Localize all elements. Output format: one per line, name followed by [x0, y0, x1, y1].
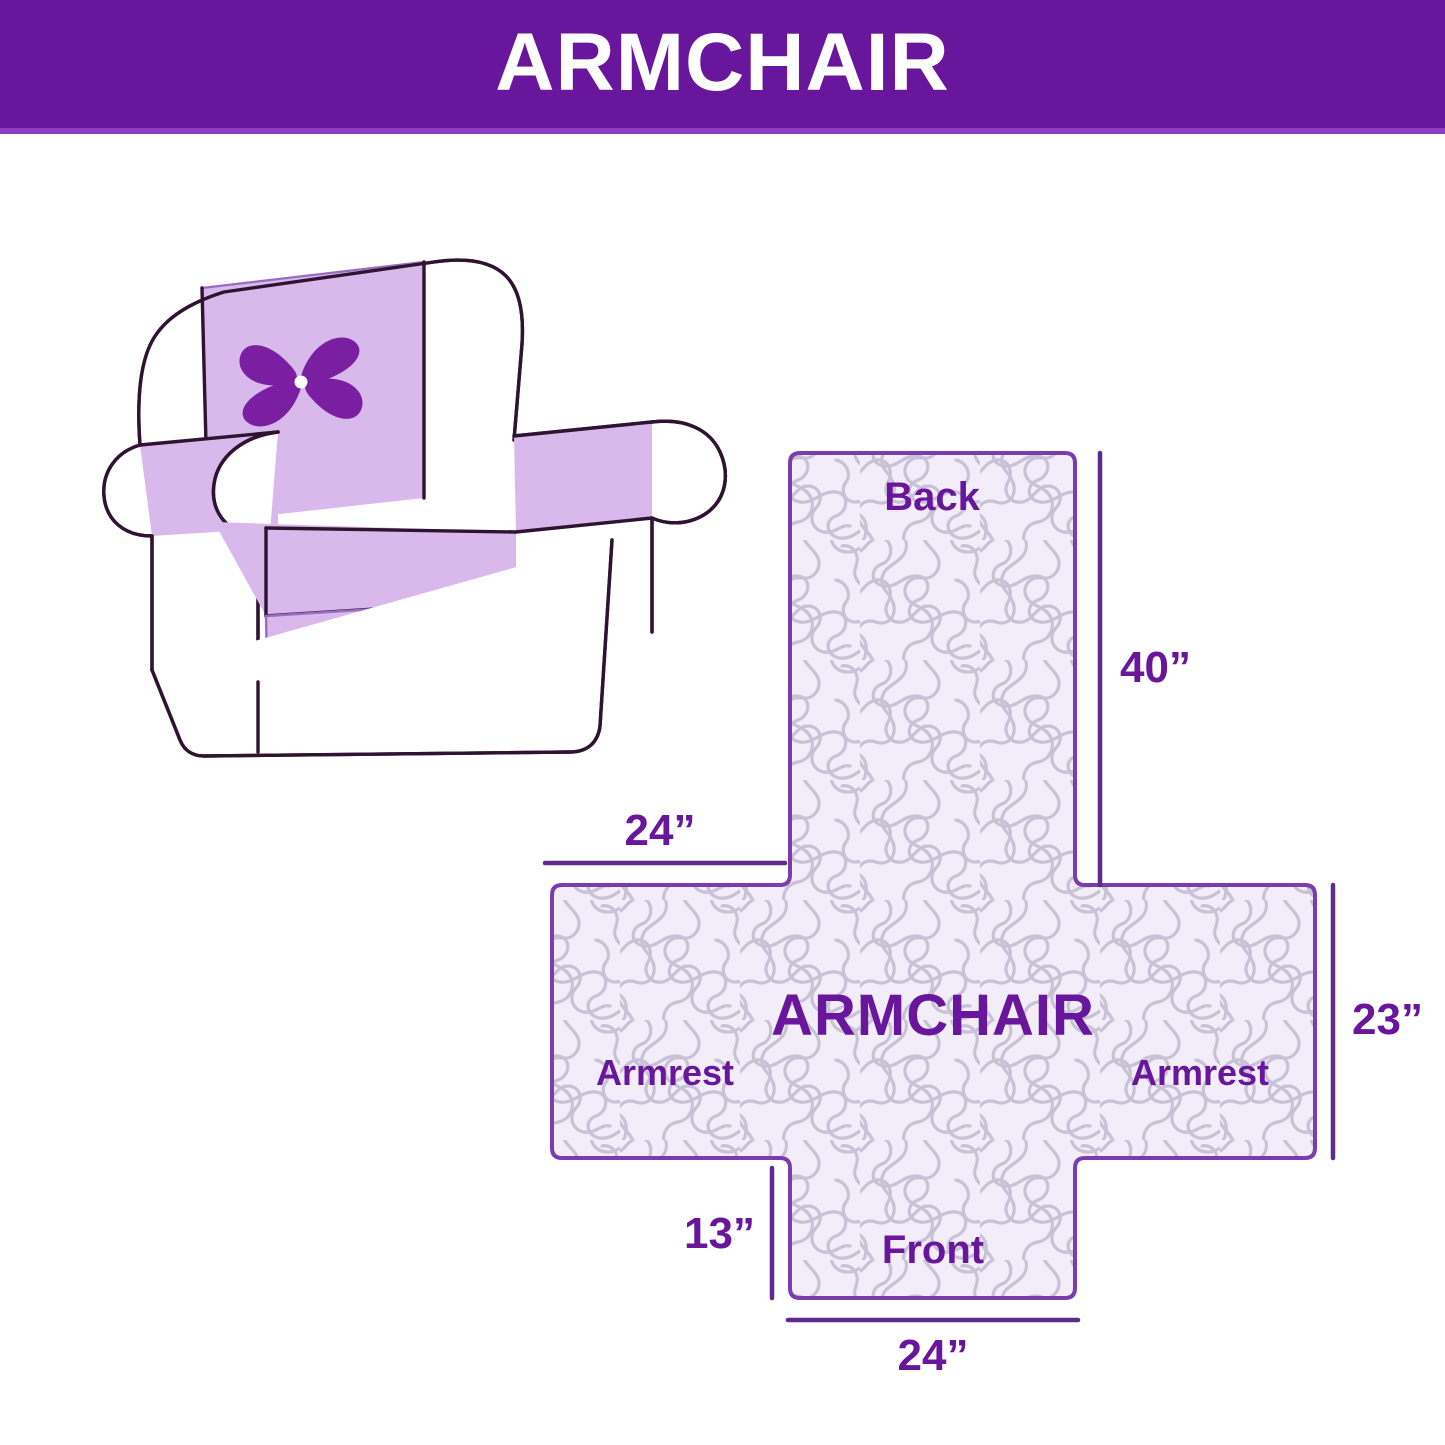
dimension-front-height-value: 13” — [684, 1209, 755, 1258]
dimension-back-height-value: 40” — [1120, 643, 1191, 692]
panel-label-front: Front — [882, 1228, 984, 1272]
panel-label-armrest-left: Armrest — [596, 1052, 734, 1093]
cover-pattern-diagram: Back Armrest ARMCHAIR Armrest Front 40” … — [500, 420, 1445, 1420]
page-title: ARMCHAIR — [0, 0, 1445, 128]
panel-label-armrest-right: Armrest — [1131, 1052, 1269, 1093]
panel-label-back: Back — [884, 475, 980, 519]
dimension-front-width-value: 24” — [898, 1331, 969, 1380]
dimension-center-height: 23” — [1333, 885, 1423, 1158]
panel-label-center: ARMCHAIR — [771, 983, 1095, 1048]
dimension-armrest-width: 24” — [545, 806, 785, 863]
dimension-armrest-width-value: 24” — [625, 806, 696, 855]
dimension-front-width: 24” — [788, 1320, 1078, 1380]
cover-cross-shape — [552, 453, 1315, 1298]
dimension-center-height-value: 23” — [1352, 995, 1423, 1044]
header-underline — [0, 128, 1445, 134]
dimension-front-height: 13” — [684, 1168, 772, 1298]
dimension-back-height: 40” — [1100, 453, 1191, 885]
